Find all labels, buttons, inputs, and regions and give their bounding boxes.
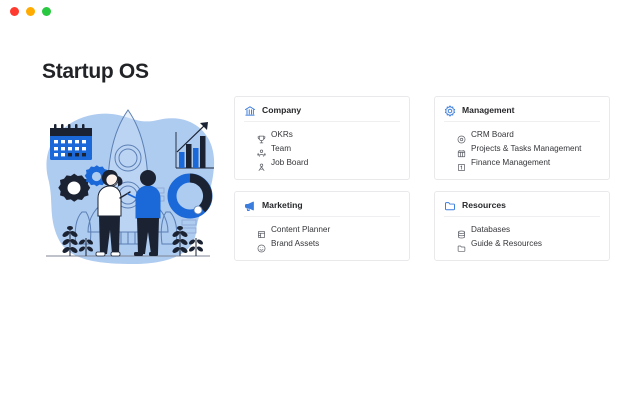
list-item-label: Databases [471,226,510,234]
list-item-label: Finance Management [471,159,550,167]
people-icon [257,145,266,154]
card-items-resources: Databases Guide & Resources [444,217,600,251]
list-item-label: Team [271,145,291,153]
gear-icon [444,104,456,116]
list-item-finance[interactable]: Finance Management [457,156,600,170]
megaphone-icon [244,199,256,211]
list-item-job-board[interactable]: Job Board [257,156,400,170]
columns-icon [457,145,466,154]
card-items-marketing: Content Planner Brand Assets [244,217,400,251]
list-item-guide-resources[interactable]: Guide & Resources [457,237,600,251]
card-title-resources: Resources [462,201,506,210]
card-company[interactable]: Company OKRs [234,96,410,180]
list-item-projects-tasks[interactable]: Projects & Tasks Management [457,142,600,156]
card-header-resources: Resources [444,199,600,217]
card-title-management: Management [462,106,515,115]
list-item-crm-board[interactable]: CRM Board [457,128,600,142]
card-marketing[interactable]: Marketing Content Planner [234,191,410,261]
list-item-brand-assets[interactable]: Brand Assets [257,237,400,251]
card-title-company: Company [262,106,301,115]
folder-icon [444,199,456,211]
card-resources[interactable]: Resources Databases [434,191,610,261]
card-items-management: CRM Board Projects & Tasks Management [444,122,600,170]
list-item-label: Job Board [271,159,308,167]
number-one-icon [457,159,466,168]
list-item-label: OKRs [271,131,293,139]
list-item-content-planner[interactable]: Content Planner [257,223,400,237]
card-header-management: Management [444,104,600,122]
person-network-icon [257,159,266,168]
minimize-window-button[interactable] [26,7,35,16]
card-title-marketing: Marketing [262,201,303,210]
list-item-team[interactable]: Team [257,142,400,156]
target-circle-icon [457,131,466,140]
page-title: Startup OS [42,60,149,84]
list-item-label: Content Planner [271,226,330,234]
circle-face-icon [257,240,266,249]
list-item-label: Brand Assets [271,240,319,248]
grid-table-icon [257,226,266,235]
list-item-label: CRM Board [471,131,514,139]
list-item-label: Guide & Resources [471,240,542,248]
database-icon [457,226,466,235]
link-cards-grid: Company OKRs [234,96,610,261]
startup-team-rocket-illustration [30,92,226,270]
card-header-marketing: Marketing [244,199,400,217]
list-item-okrs[interactable]: OKRs [257,128,400,142]
close-window-button[interactable] [10,7,19,16]
titlebar [0,0,640,22]
list-item-label: Projects & Tasks Management [471,145,581,153]
folder-open-icon [457,240,466,249]
card-items-company: OKRs Team [244,122,400,170]
card-header-company: Company [244,104,400,122]
maximize-window-button[interactable] [42,7,51,16]
bank-icon [244,104,256,116]
app-window: Startup OS [0,0,640,400]
trophy-icon [257,131,266,140]
list-item-databases[interactable]: Databases [457,223,600,237]
card-management[interactable]: Management CRM Board [434,96,610,180]
